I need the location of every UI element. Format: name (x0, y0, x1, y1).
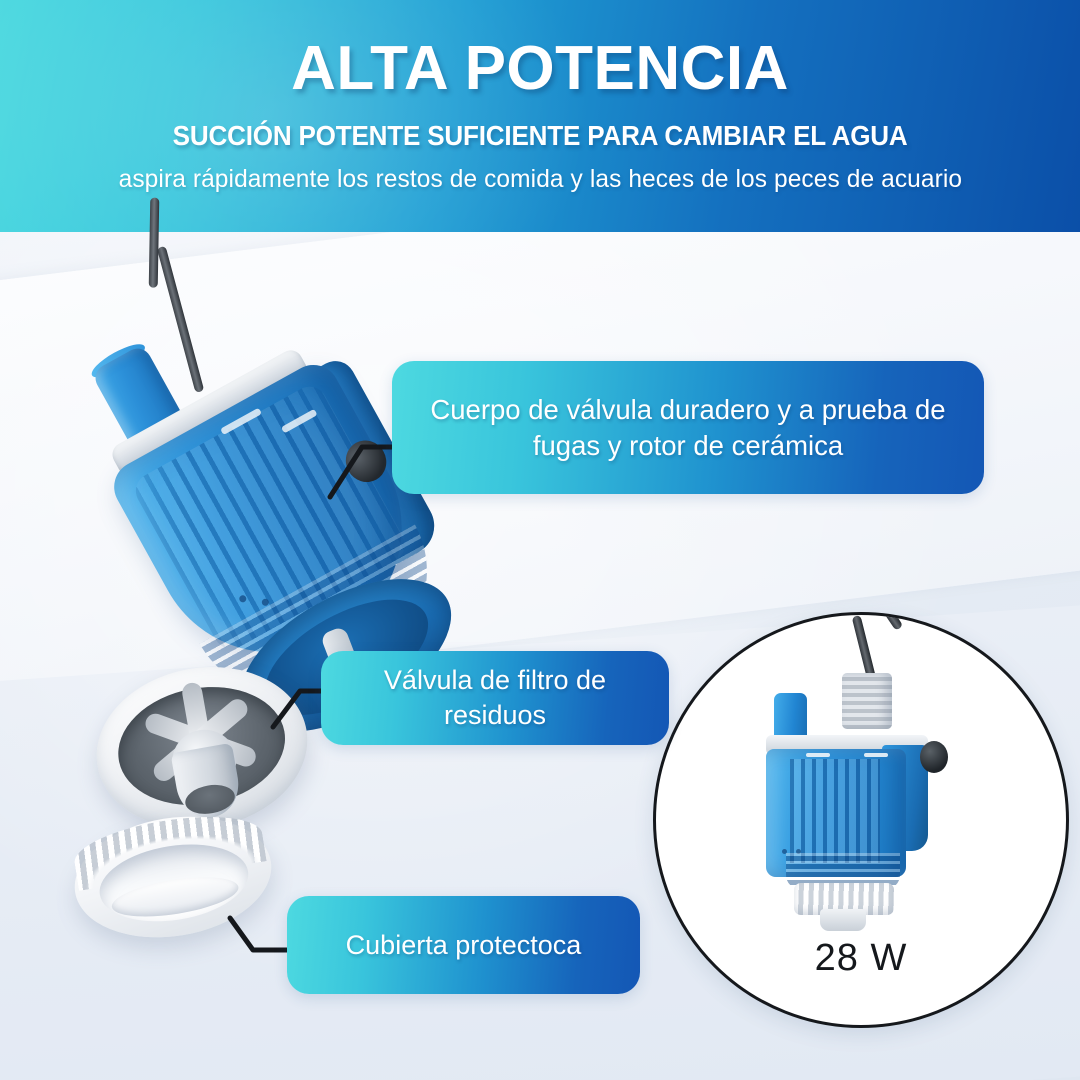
product-inset-circle: 28 W (653, 612, 1069, 1028)
inset-threaded-fitting (842, 673, 892, 729)
callout-protective-cover-text: Cubierta protectoca (332, 928, 596, 963)
inset-power-cord-upper (866, 612, 904, 631)
callout-protective-cover[interactable]: Cubierta protectoca (287, 896, 640, 994)
leader-line-filter-valve (273, 691, 324, 727)
inset-cooling-fins (790, 759, 880, 863)
inset-rubber-knob (920, 741, 948, 773)
inset-pump-illustration (752, 653, 982, 923)
callout-valve-body-text: Cuerpo de válvula duradero y a prueba de… (392, 392, 984, 462)
inset-vent-slot (864, 753, 888, 757)
callout-filter-valve[interactable]: Válvula de filtro de residuos (321, 651, 669, 745)
inset-intake-nozzle (820, 909, 866, 931)
callout-filter-valve-text: Válvula de filtro de residuos (321, 663, 669, 732)
power-rating-label: 28 W (656, 937, 1066, 980)
callout-valve-body[interactable]: Cuerpo de válvula duradero y a prueba de… (392, 361, 984, 494)
promo-image-root: ALTA POTENCIA SUCCIÓN POTENTE SUFICIENTE… (0, 0, 1080, 1080)
leader-line-protective-cover (230, 918, 290, 950)
inset-vent-slot (806, 753, 830, 757)
leader-line-valve-body (330, 447, 395, 497)
